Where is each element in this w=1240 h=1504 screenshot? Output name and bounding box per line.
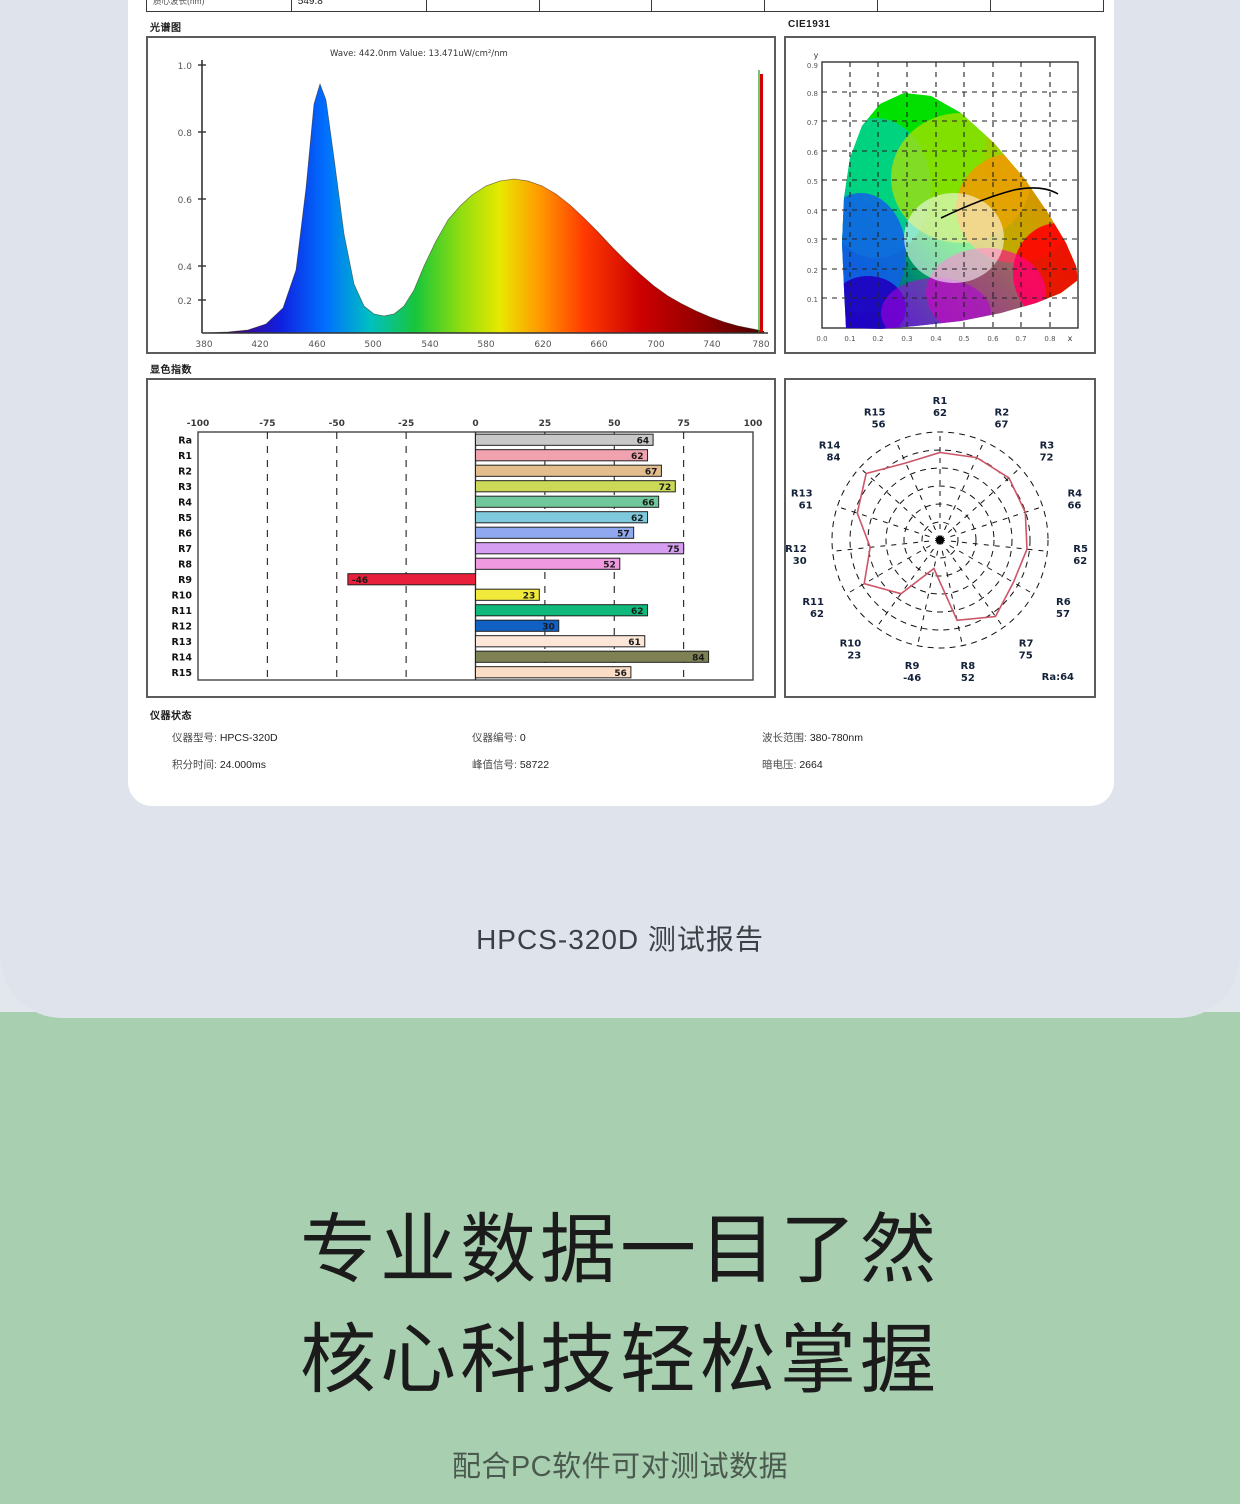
svg-text:0.6: 0.6 <box>178 196 193 206</box>
cri-bar <box>476 651 709 662</box>
cri-bar-value: 66 <box>642 498 655 508</box>
svg-text:R11: R11 <box>802 597 824 608</box>
cie-y-ticks: 0.9 0.8 0.7 0.6 0.5 0.4 0.3 0.2 0.1 y <box>807 51 819 304</box>
cri-axis-tick: 100 <box>744 419 763 429</box>
svg-text:740: 740 <box>703 340 720 350</box>
cri-bar-value: 62 <box>631 514 644 524</box>
svg-text:56: 56 <box>872 420 886 431</box>
cie-x-ticks: 0.0 0.1 0.2 0.3 0.4 0.5 0.6 0.7 0.8 x <box>816 334 1072 343</box>
cri-bar-value: 61 <box>628 638 641 648</box>
svg-text:0.4: 0.4 <box>930 335 942 343</box>
sub-caption: 配合PC软件可对测试数据 <box>0 1443 1240 1485</box>
cri-row-label: R15 <box>171 668 192 679</box>
spectrum-end-spike <box>760 74 763 333</box>
cri-bar-value: 84 <box>692 653 705 663</box>
status-value-peak: 58722 <box>520 759 549 771</box>
radar-label: R1230 <box>786 544 807 567</box>
cri-row-label: R7 <box>178 544 192 555</box>
cri-row-label: Ra <box>178 435 192 446</box>
svg-text:R1: R1 <box>933 396 948 407</box>
svg-text:62: 62 <box>933 408 947 419</box>
radar-label: R1023 <box>840 638 862 661</box>
cri-row-label: R6 <box>178 528 192 539</box>
svg-text:R10: R10 <box>840 638 862 649</box>
svg-text:0.7: 0.7 <box>1015 335 1026 343</box>
status-item-peak: 峰值信号: 58722 <box>472 757 762 772</box>
cri-row-label: R12 <box>171 621 192 632</box>
svg-text:0.1: 0.1 <box>807 296 818 304</box>
svg-text:420: 420 <box>251 340 268 350</box>
radar-label: R1484 <box>819 440 841 463</box>
svg-text:R7: R7 <box>1019 638 1034 649</box>
svg-text:R14: R14 <box>819 440 841 451</box>
svg-text:500: 500 <box>364 340 381 350</box>
svg-text:R12: R12 <box>786 544 807 555</box>
cri-radar-chart: R162R267R372R466R562R657R775R852R9-46R10… <box>786 380 1094 696</box>
cri-bar <box>476 667 631 678</box>
svg-text:R6: R6 <box>1056 597 1071 608</box>
summary-value-1: 549.8 <box>291 0 426 12</box>
cri-row-label: R3 <box>178 482 192 493</box>
headline-block: 专业数据一目了然 核心科技轻松掌握 <box>0 1196 1240 1416</box>
svg-text:30: 30 <box>793 556 807 567</box>
cri-bar-chart: -100-75-50-250255075100Ra64R162R267R372R… <box>148 380 774 696</box>
svg-text:84: 84 <box>826 452 840 463</box>
svg-text:0.3: 0.3 <box>901 335 912 343</box>
radar-label: R775 <box>1019 638 1034 661</box>
radar-label: R162 <box>933 396 948 419</box>
svg-text:R9: R9 <box>905 661 920 672</box>
cri-axis-tick: 0 <box>472 419 478 429</box>
radar-label: R1361 <box>791 489 813 512</box>
cri-bar-value: 72 <box>659 483 672 493</box>
headline-line-2: 核心科技轻松掌握 <box>0 1306 1240 1416</box>
svg-text:540: 540 <box>421 340 438 350</box>
cie1931-chart: 0.9 0.8 0.7 0.6 0.5 0.4 0.3 0.2 0.1 y <box>786 38 1094 352</box>
cri-bar <box>476 434 654 445</box>
status-value-model: HPCS-320D <box>220 732 278 744</box>
cie-x-axis-label: x <box>1068 334 1073 343</box>
spectrum-chart-panel: Wave: 442.0nm Value: 13.471uW/cm²/nm 1.0… <box>146 36 776 354</box>
cri-axis-tick: -75 <box>259 419 275 429</box>
test-report-sheet: 中心波长(nm) 440.4 质心波长(nm) 549.8 <box>128 0 1114 806</box>
svg-text:67: 67 <box>995 420 1009 431</box>
spectrum-readout: Wave: 442.0nm Value: 13.471uW/cm²/nm <box>330 49 508 59</box>
status-item-integration: 积分时间: 24.000ms <box>172 757 472 772</box>
svg-text:380: 380 <box>195 340 212 350</box>
cie-y-axis-label: y <box>814 51 819 60</box>
status-key-integration: 积分时间: <box>172 759 217 771</box>
status-key-peak: 峰值信号: <box>472 759 517 771</box>
summary-blank <box>652 0 765 12</box>
cie-section-title: CIE1931 <box>788 19 1100 34</box>
svg-text:0.2: 0.2 <box>807 267 818 275</box>
status-item-range: 波长范围: 380-780nm <box>762 730 1062 745</box>
status-key-model: 仪器型号: <box>172 732 217 744</box>
cri-radar-panel: R162R267R372R466R562R657R775R852R9-46R10… <box>784 378 1096 698</box>
svg-text:52: 52 <box>961 673 975 684</box>
svg-text:0.5: 0.5 <box>807 178 818 186</box>
cri-bar-value: 67 <box>645 467 658 477</box>
svg-text:0.0: 0.0 <box>816 335 827 343</box>
svg-text:R3: R3 <box>1040 440 1055 451</box>
cri-row-label: R14 <box>171 652 192 663</box>
summary-blank <box>426 0 539 12</box>
status-key-range: 波长范围: <box>762 732 807 744</box>
status-item-dark: 暗电压: 2664 <box>762 757 1062 772</box>
svg-text:0.4: 0.4 <box>807 208 819 216</box>
cri-bar-value: 56 <box>614 669 627 679</box>
cri-bar <box>476 481 676 492</box>
summary-blank <box>539 0 652 12</box>
svg-text:700: 700 <box>647 340 664 350</box>
svg-text:R5: R5 <box>1073 544 1088 555</box>
cri-bar <box>476 512 648 523</box>
cri-bar <box>476 636 645 647</box>
svg-text:0.2: 0.2 <box>178 297 192 307</box>
status-key-dark: 暗电压: <box>762 759 796 771</box>
cri-bar <box>476 465 662 476</box>
svg-text:0.6: 0.6 <box>987 335 999 343</box>
radar-label: R562 <box>1073 544 1088 567</box>
svg-text:66: 66 <box>1067 501 1081 512</box>
svg-text:0.7: 0.7 <box>807 119 818 127</box>
svg-text:72: 72 <box>1040 452 1054 463</box>
svg-text:0.8: 0.8 <box>807 90 818 98</box>
svg-text:62: 62 <box>810 609 824 620</box>
svg-text:0.3: 0.3 <box>807 237 818 245</box>
svg-text:R4: R4 <box>1067 489 1082 500</box>
svg-text:R15: R15 <box>864 408 886 419</box>
summary-blank <box>765 0 878 12</box>
cri-row-label: R9 <box>178 575 192 586</box>
cri-bar-value: 23 <box>523 591 536 601</box>
cri-axis-tick: -50 <box>329 419 345 429</box>
spectrum-section-title: 光谱图 <box>150 19 780 34</box>
cri-bar <box>476 496 659 507</box>
svg-text:0.5: 0.5 <box>958 335 969 343</box>
svg-text:62: 62 <box>1073 556 1087 567</box>
cri-row-label: R1 <box>178 451 192 462</box>
svg-text:0.4: 0.4 <box>178 263 193 273</box>
headline-line-1: 专业数据一目了然 <box>0 1196 1240 1306</box>
status-value-integration: 24.000ms <box>220 759 266 771</box>
svg-text:460: 460 <box>308 340 325 350</box>
svg-text:0.1: 0.1 <box>844 335 855 343</box>
summary-label-1: 质心波长(nm) <box>147 0 292 12</box>
svg-text:23: 23 <box>847 650 861 661</box>
cri-bar <box>476 450 648 461</box>
svg-text:R8: R8 <box>961 661 976 672</box>
cri-bar-value: 75 <box>667 545 680 555</box>
cri-row-label: R5 <box>178 513 192 524</box>
cri-bar-value: -46 <box>352 576 368 586</box>
cri-axis-tick: -25 <box>398 419 414 429</box>
cri-bar-value: 62 <box>631 607 644 617</box>
cri-row-label: R11 <box>171 606 192 617</box>
cri-bar-value: 57 <box>617 529 630 539</box>
cri-bar-value: 52 <box>603 560 616 570</box>
svg-text:780: 780 <box>752 340 769 350</box>
cri-axis-tick: 50 <box>608 419 621 429</box>
radar-label: R1556 <box>864 408 886 431</box>
svg-text:0.8: 0.8 <box>178 129 193 139</box>
radar-label: R372 <box>1040 440 1055 463</box>
cri-bar-value: 62 <box>631 452 644 462</box>
cri-axis-tick: -100 <box>187 419 210 429</box>
svg-text:75: 75 <box>1019 650 1033 661</box>
spectrum-chart: Wave: 442.0nm Value: 13.471uW/cm²/nm 1.0… <box>148 38 774 352</box>
radar-label: R267 <box>995 408 1010 431</box>
summary-blank <box>878 0 991 12</box>
status-value-range: 380-780nm <box>810 732 863 744</box>
svg-text:620: 620 <box>534 340 551 350</box>
cri-bar <box>476 527 634 538</box>
cri-bar <box>476 543 684 554</box>
cri-bar-value: 30 <box>542 622 555 632</box>
cri-bar-value: 64 <box>637 436 650 446</box>
cri-row-label: R13 <box>171 637 192 648</box>
radar-label: R1162 <box>802 597 824 620</box>
status-item-model: 仪器型号: HPCS-320D <box>172 730 472 745</box>
summary-blank <box>991 0 1104 12</box>
cri-row-label: R10 <box>171 590 192 601</box>
radar-label: R466 <box>1067 489 1082 512</box>
status-section-title: 仪器状态 <box>150 707 1100 722</box>
cri-row-label: R8 <box>178 559 192 570</box>
svg-text:1.0: 1.0 <box>178 62 193 72</box>
svg-text:0.2: 0.2 <box>872 335 883 343</box>
table-row: 质心波长(nm) 549.8 <box>147 0 1104 12</box>
radar-label: R9-46 <box>903 661 921 684</box>
instrument-status-block: 仪器状态 仪器型号: HPCS-320D 仪器编号: 0 波长范围: 380-7… <box>150 707 1100 772</box>
svg-text:-46: -46 <box>903 673 921 684</box>
svg-text:660: 660 <box>590 340 607 350</box>
cri-bar <box>476 558 620 569</box>
radar-label: R852 <box>961 661 976 684</box>
summary-table: 中心波长(nm) 440.4 质心波长(nm) 549.8 <box>146 0 1104 12</box>
status-item-serial: 仪器编号: 0 <box>472 730 762 745</box>
svg-text:580: 580 <box>477 340 494 350</box>
svg-text:0.9: 0.9 <box>807 62 818 70</box>
status-value-serial: 0 <box>520 732 526 744</box>
cri-row-label: R2 <box>178 466 192 477</box>
svg-text:0.8: 0.8 <box>1044 335 1055 343</box>
status-key-serial: 仪器编号: <box>472 732 517 744</box>
cri-axis-tick: 25 <box>539 419 552 429</box>
svg-text:R13: R13 <box>791 489 813 500</box>
cri-bar <box>476 605 648 616</box>
cri-bar-panel: -100-75-50-250255075100Ra64R162R267R372R… <box>146 378 776 698</box>
cri-row-label: R4 <box>178 497 192 508</box>
spectrum-x-ticks: 380 420 460 500 540 580 620 660 700 740 … <box>195 340 769 350</box>
cri-axis-tick: 75 <box>677 419 690 429</box>
svg-text:R2: R2 <box>995 408 1010 419</box>
radar-label: R657 <box>1056 597 1071 620</box>
radar-ra-label: Ra:64 <box>1042 672 1074 683</box>
svg-text:61: 61 <box>799 501 813 512</box>
svg-text:57: 57 <box>1056 609 1070 620</box>
report-caption: HPCS-320D 测试报告 <box>0 918 1240 958</box>
status-grid: 仪器型号: HPCS-320D 仪器编号: 0 波长范围: 380-780nm … <box>172 730 1100 772</box>
status-value-dark: 2664 <box>799 759 822 771</box>
svg-text:0.6: 0.6 <box>807 149 819 157</box>
cri-section-title: 显色指数 <box>150 361 1100 376</box>
report-card-container: 中心波长(nm) 440.4 质心波长(nm) 549.8 <box>0 0 1240 1018</box>
cie-chart-panel: 0.9 0.8 0.7 0.6 0.5 0.4 0.3 0.2 0.1 y <box>784 36 1096 354</box>
